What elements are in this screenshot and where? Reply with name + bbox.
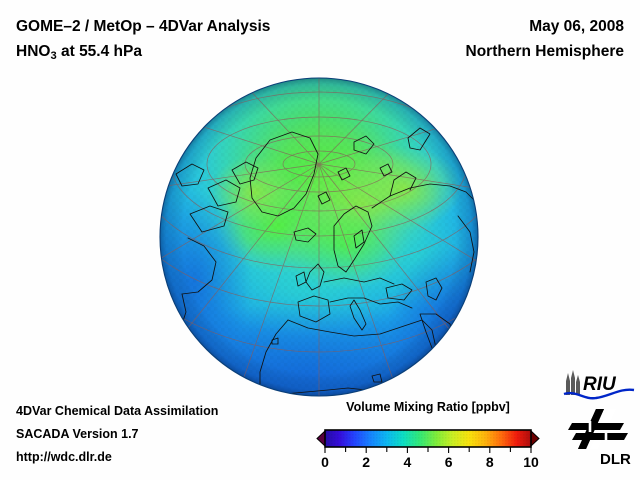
colorbar-ticks — [325, 447, 531, 453]
riu-wordmark: RIU — [583, 374, 617, 395]
header-right: May 06, 2008 Northern Hemisphere — [466, 14, 624, 64]
colorbar-dither — [325, 430, 531, 447]
footer-url: http://wdc.dlr.de — [16, 446, 218, 469]
dlr-logo: DLR — [566, 407, 634, 469]
species-subscript: 3 — [50, 50, 56, 62]
date-label: May 06, 2008 — [466, 14, 624, 39]
dlr-wordmark: DLR — [600, 451, 631, 468]
colorbar: Volume Mixing Ratio [ppbv] — [316, 400, 540, 471]
species-label-pre: HNO — [16, 43, 50, 60]
riu-tower-icon — [566, 370, 580, 395]
colorbar-tick-labels: 0 2 4 6 8 10 — [321, 454, 539, 470]
colorbar-svg: 0 2 4 6 8 10 — [316, 419, 540, 471]
header-left: GOME–2 / MetOp – 4DVar Analysis HNO3 at … — [16, 14, 270, 66]
colorbar-tick-5: 10 — [523, 454, 539, 470]
footer-line-2: SACADA Version 1.7 — [16, 423, 218, 446]
orthographic-projection-svg — [158, 76, 480, 398]
dlr-mark-icon — [568, 408, 628, 449]
colorbar-over-cap — [531, 431, 539, 446]
colorbar-tick-4: 8 — [486, 454, 494, 470]
colorbar-title: Volume Mixing Ratio [ppbv] — [316, 400, 540, 414]
region-label: Northern Hemisphere — [466, 39, 624, 64]
figure-canvas: GOME–2 / MetOp – 4DVar Analysis HNO3 at … — [0, 0, 640, 480]
colorbar-under-cap — [317, 431, 325, 446]
footer-credits: 4DVar Chemical Data Assimilation SACADA … — [16, 400, 218, 469]
footer-line-1: 4DVar Chemical Data Assimilation — [16, 400, 218, 423]
colorbar-tick-1: 2 — [362, 454, 370, 470]
colorbar-tick-0: 0 — [321, 454, 329, 470]
colorbar-tick-2: 4 — [404, 454, 412, 470]
globe-map — [158, 76, 480, 398]
page-title: GOME–2 / MetOp – 4DVar Analysis — [16, 14, 270, 39]
species-level-label: HNO3 at 55.4 hPa — [16, 39, 270, 66]
species-label-post: at 55.4 hPa — [57, 43, 142, 60]
riu-logo: RIU — [562, 369, 636, 401]
colorbar-tick-3: 6 — [445, 454, 453, 470]
